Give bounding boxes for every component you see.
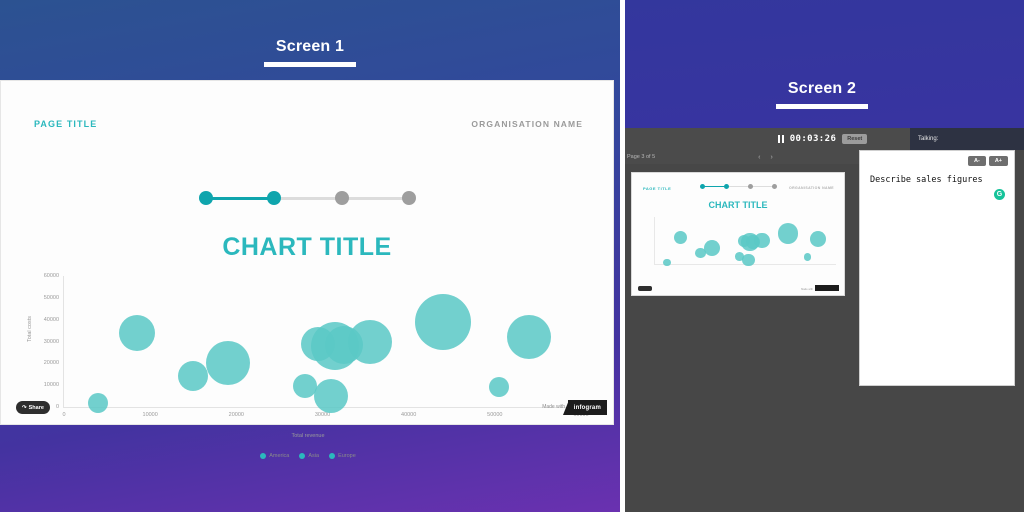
thumbnail-slide: PAGE TITLE ORGANISATION NAME CHART TITLE [631,172,845,296]
thumbnail-chart-bubble [704,240,720,256]
presentation-slide[interactable]: PAGE TITLE ORGANISATION NAME CHART TITLE… [0,80,614,425]
pause-icon[interactable] [778,135,784,143]
chart-bubble[interactable] [507,315,551,359]
chevron-left-icon[interactable]: ‹ [758,154,760,161]
thumbnail-chart-bubble [674,231,687,244]
chart-bubble[interactable] [206,341,250,385]
thumbnail-stepper-segment-2 [727,186,750,187]
chart-legend: AmericaAsiaEurope [1,453,615,459]
chart-plot-area: 0100002000030000400005000060000010000200… [63,276,581,408]
screen-1-panel: Screen 1 PAGE TITLE ORGANISATION NAME CH… [0,0,620,512]
chart-x-axis-label: Total revenue [1,433,615,439]
dual-screen-stage: Screen 1 PAGE TITLE ORGANISATION NAME CH… [0,0,1024,512]
decrease-font-button[interactable]: A- [968,156,986,166]
increase-font-button[interactable]: A+ [989,156,1008,166]
screen-1-label: Screen 1 [0,38,620,67]
thumbnail-chart-bubble [778,223,798,243]
slide-progress-stepper[interactable] [199,191,419,205]
legend-item[interactable]: Asia [299,453,319,459]
chart-bubble[interactable] [489,377,509,397]
y-axis-tick: 50000 [44,295,59,301]
slide-organisation-name: ORGANISATION NAME [471,119,583,129]
screen-2-underline [776,104,868,109]
legend-label: America [269,453,289,459]
talking-indicator: Talking: [910,128,1024,150]
thumbnail-organisation-name: ORGANISATION NAME [789,186,834,190]
y-axis-tick: 30000 [44,339,59,345]
thumbnail-stepper-dot-4 [772,184,777,189]
stepper-segment-2 [275,197,342,200]
legend-swatch [329,453,335,459]
font-size-controls: A- A+ [968,156,1008,166]
screen-2-panel: Screen 2 00:03:26 Reset Talking: Page 3 … [620,0,1024,512]
timer-group: 00:03:26 Reset [778,134,868,144]
chevron-right-icon[interactable]: › [771,154,773,161]
chart-bubble[interactable] [415,294,471,350]
stepper-dot-1[interactable] [199,191,213,205]
made-with-label: Made with [542,404,565,410]
screen-1-underline [264,62,356,67]
y-axis-tick: 40000 [44,317,59,323]
legend-label: Europe [338,453,356,459]
speaker-notes-panel[interactable]: A- A+ Describe sales figures G [859,150,1015,386]
thumbnail-page-title: PAGE TITLE [643,186,671,191]
stepper-dot-3[interactable] [335,191,349,205]
y-axis-tick: 20000 [44,360,59,366]
chart-title: CHART TITLE [1,233,613,262]
infogram-brand-tag[interactable]: infogram [568,400,607,415]
legend-swatch [260,453,266,459]
screen-2-label-text: Screen 2 [788,80,856,98]
share-button-label: Share [29,405,44,411]
thumbnail-share-button [638,286,652,291]
stepper-segment-3 [342,197,410,200]
legend-item[interactable]: America [260,453,289,459]
slide-header [1,81,613,143]
presentation-timer: 00:03:26 [790,134,837,144]
reset-timer-button[interactable]: Reset [842,134,867,144]
bubble-chart: 0100002000030000400005000060000010000200… [1,266,615,466]
stepper-dot-2[interactable] [267,191,281,205]
thumbnail-stepper [700,184,777,189]
share-icon: ↷ [22,405,27,411]
slide-page-title: PAGE TITLE [34,119,97,129]
chart-y-axis-label: Total costs [27,316,33,342]
stepper-dot-4[interactable] [402,191,416,205]
thumbnail-chart-bubble [810,231,826,247]
speaker-notes-text[interactable]: Describe sales figures [870,175,1004,185]
chart-bubble[interactable] [119,315,155,351]
y-axis-tick: 60000 [44,273,59,279]
thumbnail-stepper-dot-2 [724,184,729,189]
chart-bubble[interactable] [178,361,208,391]
legend-item[interactable]: Europe [329,453,356,459]
infogram-brand-label: infogram [574,405,601,411]
presenter-toolbar: 00:03:26 Reset Talking: [621,128,1024,150]
grammarly-icon[interactable]: G [994,189,1005,200]
legend-swatch [299,453,305,459]
screen-1-label-text: Screen 1 [276,38,344,56]
thumbnail-chart-bubble [663,259,670,266]
thumbnail-made-with: Made with [801,288,813,291]
presenter-view: 00:03:26 Reset Talking: Page 3 of 5 ‹ › … [621,128,1024,512]
share-button[interactable]: ↷ Share [16,401,50,414]
thumbnail-plot-area [654,217,836,265]
screen-2-label: Screen 2 [620,80,1024,109]
thumbnail-stepper-segment-3 [750,186,774,187]
thumbnail-chart-bubble [742,254,754,266]
thumbnail-chart-bubble [804,253,811,260]
thumbnail-stepper-dot-3 [748,184,753,189]
legend-label: Asia [308,453,319,459]
y-axis-tick: 10000 [44,382,59,388]
screen-divider [620,0,625,512]
grammarly-glyph: G [997,191,1002,198]
chart-bubble[interactable] [348,320,392,364]
thumbnail-chart-bubble [754,233,770,249]
thumbnail-chart-title: CHART TITLE [632,200,844,210]
stepper-segment-1 [207,197,275,200]
thumbnail-stepper-dot-1 [700,184,705,189]
thumbnail-brand-tag [815,285,839,291]
current-slide-thumbnail[interactable]: PAGE TITLE ORGANISATION NAME CHART TITLE [631,172,845,296]
slide-footer: ↷ Share Made with infogram [1,396,613,424]
talking-label: Talking: [918,136,938,142]
